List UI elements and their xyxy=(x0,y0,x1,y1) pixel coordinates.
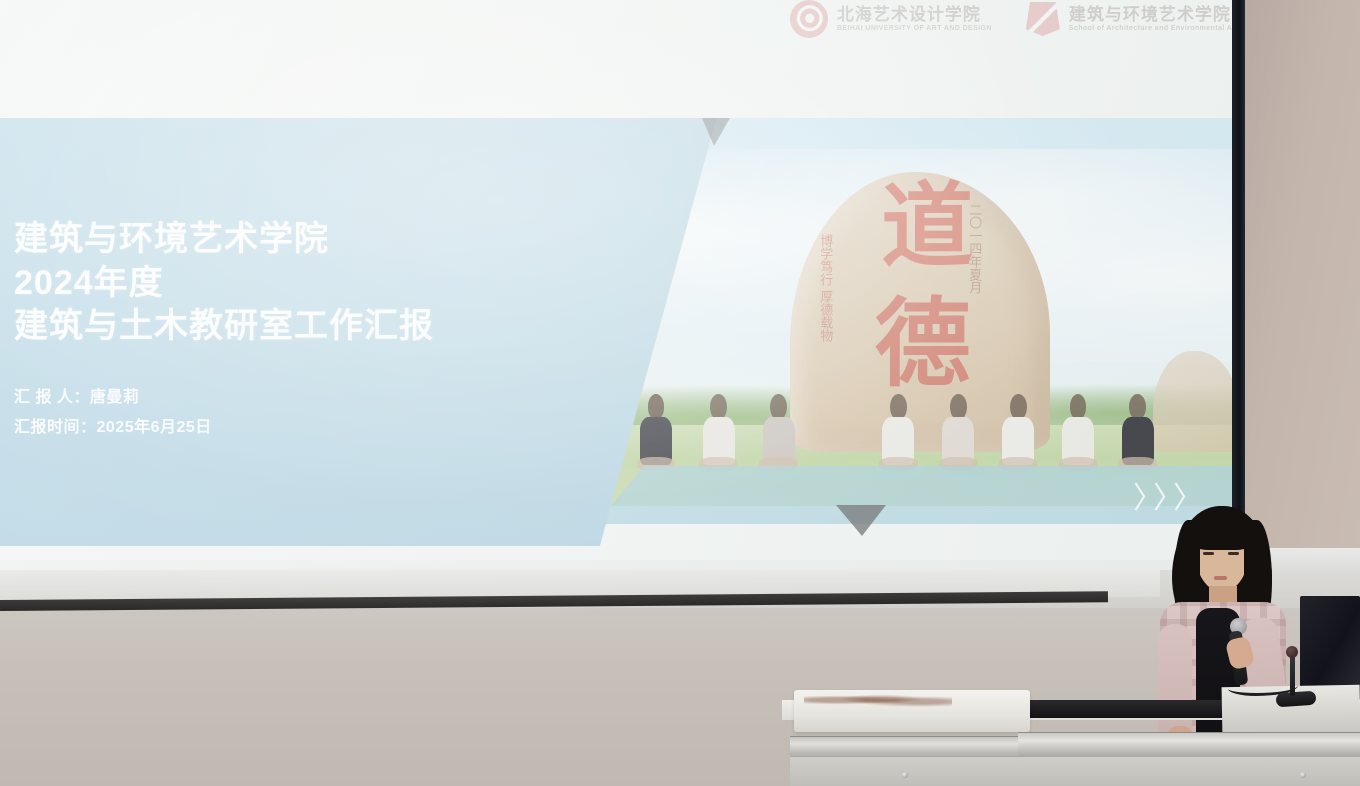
stone-inscription-left: 博学笃行 厚德载物 xyxy=(816,234,831,342)
stone-character-dao: 道 xyxy=(881,180,973,272)
slide-logo-row: 北海艺术设计学院 BEIHAI UNIVERSITY OF ART AND DE… xyxy=(790,0,1238,38)
classroom-scene: 道 德 二〇一四年夏月 博学笃行 厚德载物 〉〉〉 xyxy=(0,0,1360,786)
slide-meta-block: 汇 报 人：唐曼莉 汇报时间：2025年6月25日 xyxy=(14,383,634,444)
student-figure xyxy=(757,394,799,472)
student-figure xyxy=(877,394,919,472)
photo-students xyxy=(635,394,1205,472)
shield-logo-icon xyxy=(1026,2,1060,36)
gooseneck-stem xyxy=(1290,652,1295,696)
podium-lid-stain xyxy=(804,692,952,708)
podium-screw xyxy=(1300,772,1306,778)
student-figure xyxy=(997,394,1039,472)
keyboard-drawer-left[interactable] xyxy=(790,736,1026,758)
podium-screw xyxy=(902,772,908,778)
slide-notch-triangle-icon xyxy=(836,505,886,536)
student-figure xyxy=(1117,394,1159,472)
panel-corner-triangle-icon xyxy=(702,118,730,146)
logo-school: 建筑与环境艺术学院 School of Architecture and Env… xyxy=(1026,2,1238,36)
slide-title-line-3: 建筑与土木教研室工作汇报 xyxy=(14,305,634,349)
gooseneck-tip xyxy=(1286,646,1298,658)
gooseneck-microphone-icon xyxy=(1276,691,1317,708)
presenter-mouth xyxy=(1214,576,1227,580)
slide-title-line-2: 2024年度 xyxy=(14,262,634,306)
wall-right xyxy=(1244,0,1360,560)
student-figure xyxy=(1057,394,1099,472)
logo-university-en: BEIHAI UNIVERSITY OF ART AND DESIGN xyxy=(837,25,992,33)
slide-accent-bar: 〉〉〉 xyxy=(596,466,1244,524)
projection-screen: 道 德 二〇一四年夏月 博学笃行 厚德载物 〉〉〉 xyxy=(0,0,1244,570)
podium-front-face xyxy=(790,756,1360,786)
slide-date-line: 汇报时间：2025年6月25日 xyxy=(14,413,634,443)
presenter-eye-right xyxy=(1228,552,1239,555)
keyboard-drawer-right[interactable] xyxy=(1018,732,1360,758)
student-figure xyxy=(698,394,740,472)
logo-school-en: School of Architecture and Environmental… xyxy=(1069,25,1238,33)
slide-text-block: 建筑与环境艺术学院 2024年度 建筑与土木教研室工作汇报 汇 报 人：唐曼莉 … xyxy=(14,218,634,443)
student-figure xyxy=(635,394,677,472)
logo-school-text: 建筑与环境艺术学院 School of Architecture and Env… xyxy=(1069,6,1238,33)
stone-inscription-right: 二〇一四年夏月 xyxy=(965,203,980,294)
screen-frame-right xyxy=(1232,0,1245,560)
student-figure xyxy=(937,394,979,472)
stone-character-de: 德 xyxy=(875,296,971,392)
slide-presenter-line: 汇 报 人：唐曼莉 xyxy=(14,383,634,413)
spiral-logo-icon xyxy=(790,0,828,38)
logo-university-cn: 北海艺术设计学院 xyxy=(837,6,992,25)
slide-title-line-1: 建筑与环境艺术学院 xyxy=(14,218,634,262)
logo-university-text: 北海艺术设计学院 BEIHAI UNIVERSITY OF ART AND DE… xyxy=(837,6,992,33)
presenter-eye-left xyxy=(1203,552,1214,555)
logo-university: 北海艺术设计学院 BEIHAI UNIVERSITY OF ART AND DE… xyxy=(790,0,992,38)
podium-dark-rail xyxy=(1010,700,1242,718)
logo-school-cn: 建筑与环境艺术学院 xyxy=(1069,6,1238,25)
